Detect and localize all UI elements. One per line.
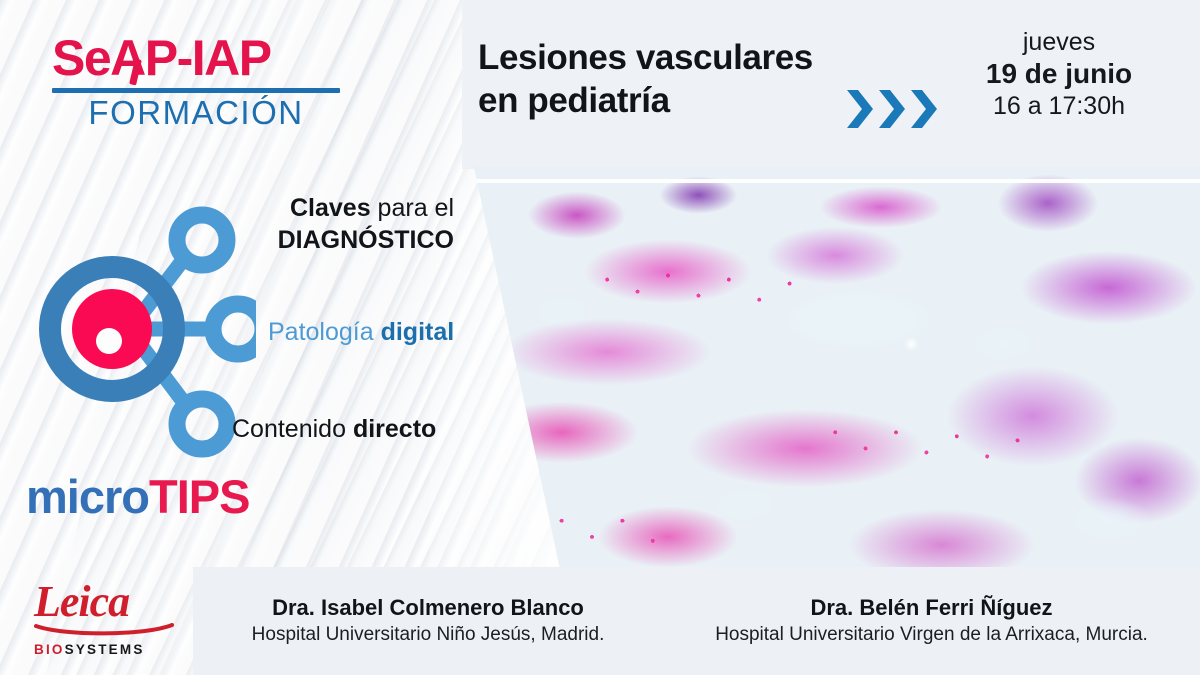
- microtips-tips: TIPS: [149, 470, 249, 523]
- webinar-banner: SeAP-IAP FORMACIÓN Lesiones vasculares e…: [0, 0, 1200, 675]
- seap-formacion-label: FORMACIÓN: [52, 96, 340, 131]
- feature-1-rest: para el: [371, 194, 454, 222]
- leica-subtitle: BIOSYSTEMS: [34, 643, 184, 657]
- speaker-2-affiliation: Hospital Universitario Virgen de la Arri…: [669, 623, 1194, 648]
- feature-3-rest: directo: [353, 415, 436, 443]
- seap-divider-rule: [52, 88, 340, 93]
- leica-wordmark: Leica: [34, 580, 184, 624]
- feature-patologia-digital: Patología digital: [268, 318, 454, 347]
- feature-1-line-1: Claves para el: [224, 192, 454, 224]
- chevron-right-icon: [845, 88, 939, 130]
- chevron-1-icon: [845, 88, 875, 130]
- diagram-node-bottom: [177, 399, 227, 449]
- feature-1-lead: Claves: [290, 194, 371, 222]
- leica-swoosh-icon: [34, 623, 176, 637]
- speaker-2-name: Dra. Belén Ferri Ñíguez: [669, 594, 1194, 623]
- feature-2-rest: digital: [381, 318, 455, 346]
- leica-biosystems-logo: Leica BIOSYSTEMS: [34, 580, 184, 657]
- histology-erythrocytes-layer: [440, 167, 1200, 569]
- chevron-2-icon: [877, 88, 907, 130]
- event-time: 16 a 17:30h: [954, 91, 1164, 121]
- title-line-1: Lesiones vasculares: [478, 37, 908, 80]
- event-weekday: jueves: [954, 28, 1164, 57]
- histology-photo: [440, 167, 1200, 569]
- feature-1-line-2: DIAGNÓSTICO: [224, 224, 454, 256]
- chevron-3-icon: [909, 88, 939, 130]
- speaker-1-name: Dra. Isabel Colmenero Blanco: [199, 594, 657, 623]
- speaker-1: Dra. Isabel Colmenero Blanco Hospital Un…: [193, 594, 663, 647]
- diagram-node-middle: [213, 304, 256, 354]
- leica-systems-text: SYSTEMS: [65, 642, 145, 657]
- feature-contenido-directo: Contenido directo: [232, 415, 436, 444]
- webinar-title: Lesiones vasculares en pediatría: [478, 37, 908, 122]
- microtips-logo: microTIPS: [26, 473, 249, 520]
- event-day: 19 de junio: [954, 57, 1164, 91]
- speakers-footer: Dra. Isabel Colmenero Blanco Hospital Un…: [193, 567, 1200, 675]
- event-date: jueves 19 de junio 16 a 17:30h: [954, 28, 1164, 121]
- microtips-micro: micro: [26, 470, 149, 523]
- seap-iap-logo: SeAP-IAP FORMACIÓN: [52, 33, 352, 131]
- diagram-node-top: [177, 215, 227, 265]
- histology-seam-line: [440, 179, 1200, 183]
- feature-diagnostico: Claves para el DIAGNÓSTICO: [224, 192, 454, 256]
- speaker-1-affiliation: Hospital Universitario Niño Jesús, Madri…: [199, 623, 657, 648]
- seap-iap-wordmark: SeAP-IAP: [52, 33, 352, 83]
- network-node-diagram: [16, 196, 256, 466]
- diagram-hub-dot: [96, 328, 122, 354]
- feature-3-lead: Contenido: [232, 415, 346, 443]
- title-line-2: en pediatría: [478, 80, 908, 123]
- leica-bio-text: BIO: [34, 642, 65, 657]
- feature-2-lead: Patología: [268, 318, 374, 346]
- speaker-2: Dra. Belén Ferri Ñíguez Hospital Univers…: [663, 594, 1200, 647]
